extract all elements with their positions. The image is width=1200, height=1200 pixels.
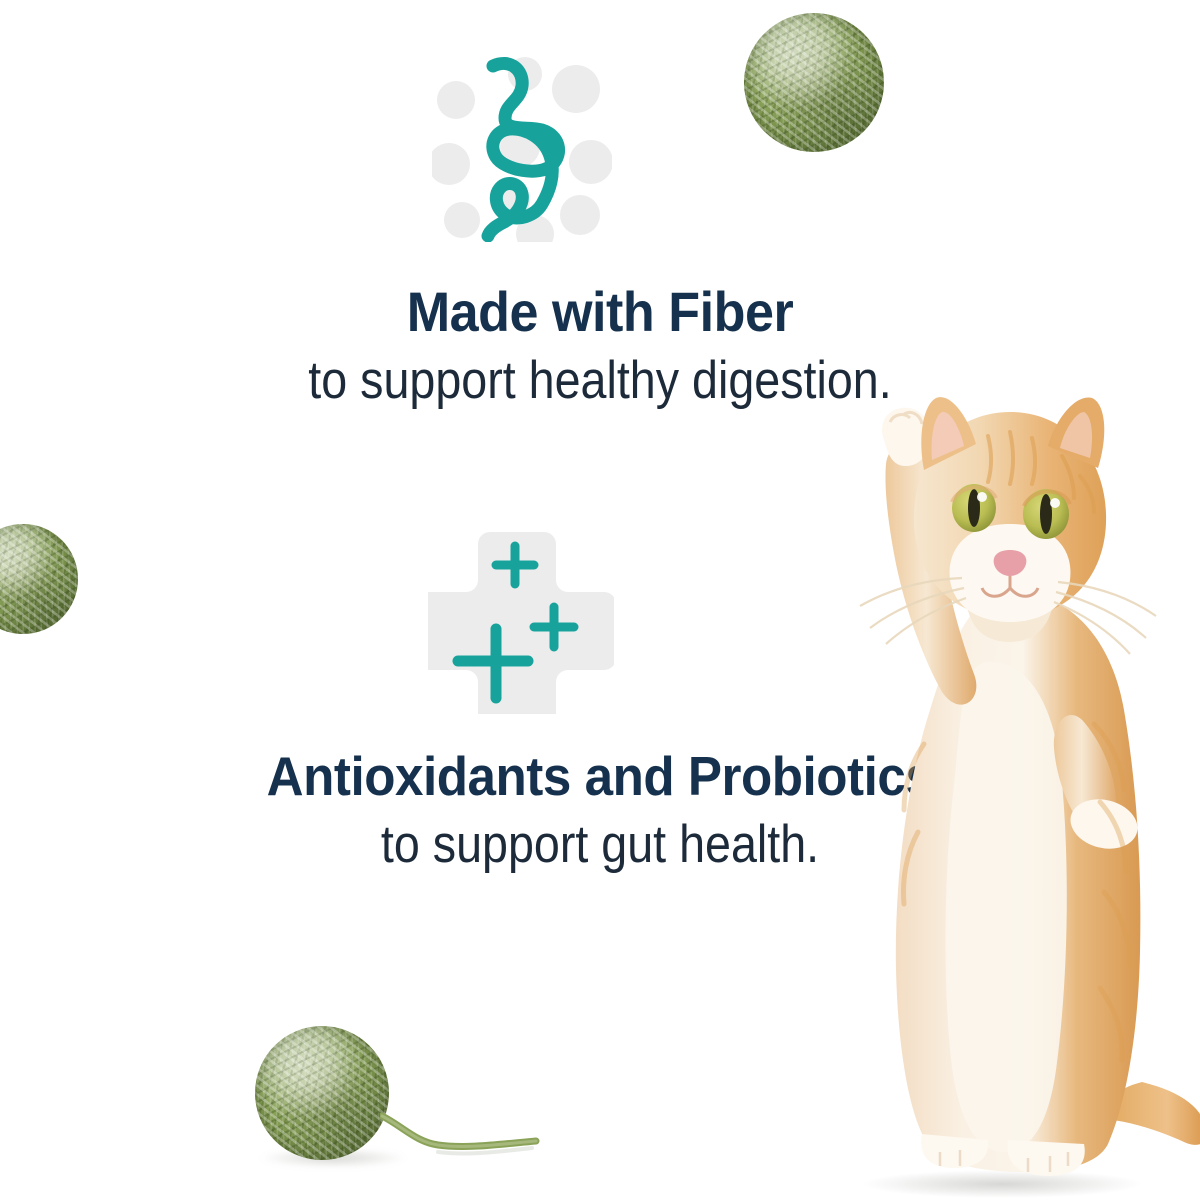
yarn-ball-body — [744, 13, 884, 152]
yarn-ball-body — [255, 1026, 389, 1160]
yarn-ball-body — [0, 524, 78, 634]
yarn-ball-bottom-left — [255, 1026, 389, 1160]
gut-fiber-icon — [432, 52, 612, 242]
yarn-ball-left-edge — [0, 524, 78, 634]
yarn-ball-top-right — [744, 13, 884, 152]
plus-cluster-icon — [428, 528, 614, 714]
benefit-headline-fiber: Made with Fiber — [42, 281, 1158, 343]
banner-canvas: Made with Fiber to support healthy diges… — [0, 0, 1200, 1200]
yarn-trailing-strand — [380, 1112, 540, 1158]
orange-tabby-cat — [812, 392, 1200, 1200]
